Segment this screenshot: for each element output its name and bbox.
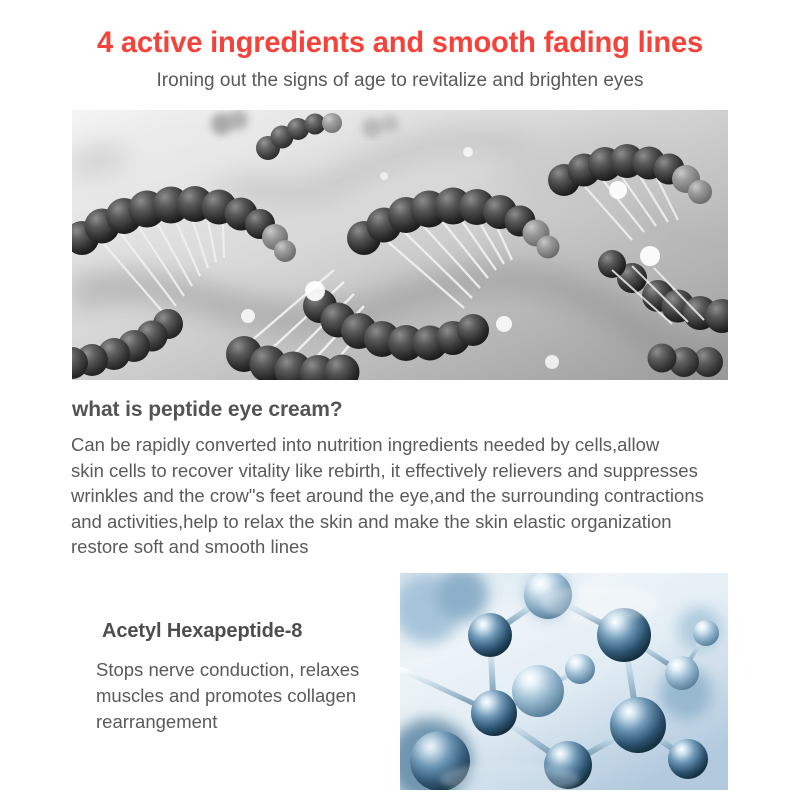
ingredient-name: Acetyl Hexapeptide-8: [102, 620, 302, 643]
ingredient-description: Stops nerve conduction, relaxes muscles …: [96, 657, 396, 735]
ingredient-description-line: muscles and promotes collagen: [96, 683, 396, 709]
dna-hero-image: [72, 110, 728, 380]
page-subheadline: Ironing out the signs of age to revitali…: [0, 70, 800, 92]
infographic-page: 4 active ingredients and smooth fading l…: [0, 0, 800, 800]
paragraph-line: restore soft and smooth lines: [71, 534, 751, 560]
paragraph-line: and activities,help to relax the skin an…: [71, 509, 751, 535]
molecule-image: [400, 573, 728, 790]
ingredient-description-line: rearrangement: [96, 709, 396, 735]
paragraph-line: Can be rapidly converted into nutrition …: [71, 432, 751, 458]
ingredient-description-line: Stops nerve conduction, relaxes: [96, 657, 396, 683]
dna-helix-illustration: [72, 110, 728, 380]
molecule-illustration: [400, 573, 728, 790]
about-section-title: what is peptide eye cream?: [72, 398, 343, 422]
about-section-paragraph: Can be rapidly converted into nutrition …: [71, 432, 751, 560]
paragraph-line: skin cells to recover vitality like rebi…: [71, 458, 751, 484]
paragraph-line: wrinkles and the crow"s feet around the …: [71, 483, 751, 509]
page-headline: 4 active ingredients and smooth fading l…: [12, 26, 788, 60]
